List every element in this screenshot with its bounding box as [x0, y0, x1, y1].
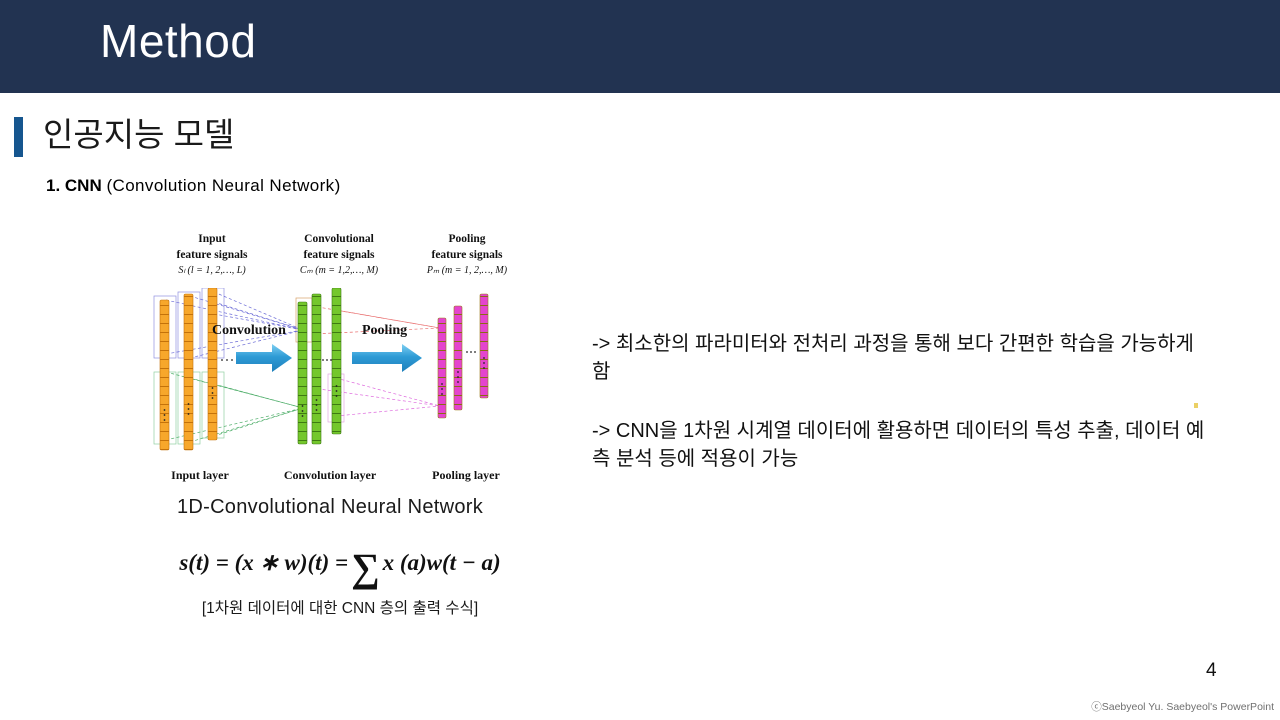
summation-icon: ∑ [351, 545, 380, 590]
notes-block: -> 최소한의 파라미터와 전처리 과정을 통해 보다 간편한 학습을 가능하게… [592, 330, 1212, 474]
footer-credit: ⓒSaebyeol Yu. Saebyeol's PowerPoint [1091, 699, 1274, 714]
figure-bottom-label-convolution-layer: Convolution layer [260, 468, 400, 483]
figure-column-labels: Input feature signals Sₗ (l = 1, 2,…, L)… [140, 232, 520, 294]
figure-label-pool-line1: Pooling [448, 233, 485, 245]
figure-label-input-line1: Input [198, 233, 226, 245]
section-title: 인공지능 모델 [43, 116, 234, 154]
formula-caption: [1차원 데이터에 대한 CNN 층의 출력 수식] [140, 596, 540, 618]
figure-label-conv-feature-signals: Convolutional feature signals Cₘ (m = 1,… [268, 232, 410, 278]
cnn-architecture-figure: Input feature signals Sₗ (l = 1, 2,…, L)… [140, 232, 520, 488]
subheading-number: 1. CNN [46, 176, 102, 195]
figure-label-input-line2: feature signals [176, 249, 247, 261]
formula-lhs: s(t) = (x ∗ w)(t) = [179, 550, 348, 575]
subheading-expansion: (Convolution Neural Network) [106, 176, 340, 195]
figure-convolution-layer-bars [298, 288, 341, 444]
figure-operation-label-convolution: Convolution [212, 323, 286, 338]
figure-label-pool-notation: Pₘ (m = 1, 2,…, M) [402, 264, 532, 278]
section-accent-bar [14, 117, 23, 157]
figure-label-input-notation: Sₗ (l = 1, 2,…, L) [142, 264, 282, 278]
figure-label-conv-line1: Convolutional [304, 233, 374, 245]
figure-input-layer-bars [160, 288, 233, 450]
convolution-arrow-icon [236, 344, 292, 372]
figure-operation-label-pooling: Pooling [362, 323, 407, 338]
note-paragraph-2: -> CNN을 1차원 시계열 데이터에 활용하면 데이터의 특성 추출, 데이… [592, 417, 1212, 474]
figure-diagram-canvas: Convolution Pooling [140, 288, 520, 468]
pooling-arrow-icon [352, 344, 422, 372]
cnn-output-formula: s(t) = (x ∗ w)(t) =∑x (a)w(t − a) [140, 550, 540, 576]
figure-bottom-label-pooling-layer: Pooling layer [402, 468, 530, 483]
note-paragraph-1: -> 최소한의 파라미터와 전처리 과정을 통해 보다 간편한 학습을 가능하게… [592, 330, 1212, 387]
subheading: 1. CNN (Convolution Neural Network) [46, 176, 341, 196]
figure-bottom-labels: Input layer Convolution layer Pooling la… [140, 468, 520, 484]
figure-label-conv-line2: feature signals [303, 249, 374, 261]
figure-bottom-label-input-layer: Input layer [140, 468, 260, 483]
figure-caption: 1D-Convolutional Neural Network [140, 496, 520, 519]
figure-label-input-feature-signals: Input feature signals Sₗ (l = 1, 2,…, L) [142, 232, 282, 278]
figure-label-conv-notation: Cₘ (m = 1,2,…, M) [268, 264, 410, 278]
figure-label-pool-line2: feature signals [431, 249, 502, 261]
page-number: 4 [1206, 660, 1217, 682]
formula-rhs: x (a)w(t − a) [383, 550, 501, 575]
figure-pooling-layer-bars [438, 294, 488, 418]
decorative-speck [1194, 403, 1198, 408]
figure-label-pool-feature-signals: Pooling feature signals Pₘ (m = 1, 2,…, … [402, 232, 532, 278]
figure-flow-arrows [236, 344, 422, 372]
page-title: Method [100, 18, 256, 64]
